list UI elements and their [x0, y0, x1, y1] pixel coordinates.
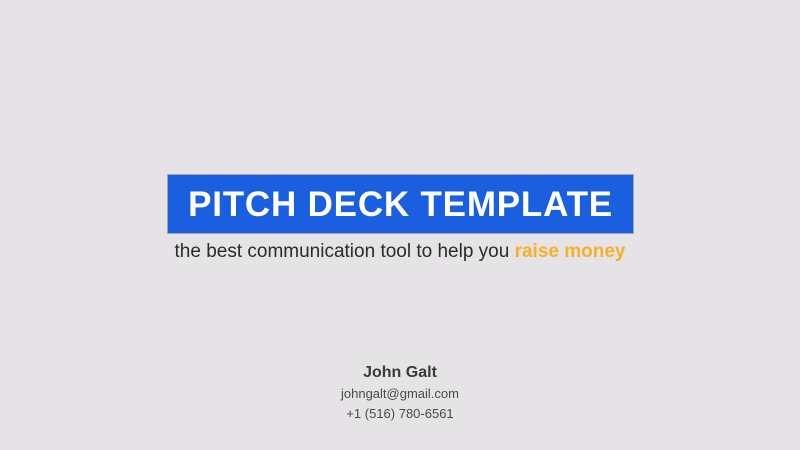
contact-block: John Galt johngalt@gmail.com +1 (516) 78…: [0, 362, 800, 424]
title-banner: PITCH DECK TEMPLATE: [168, 175, 633, 233]
contact-phone: +1 (516) 780-6561: [0, 404, 800, 424]
presentation-slide: PITCH DECK TEMPLATE the best communicati…: [0, 0, 800, 450]
slide-subtitle: the best communication tool to help you …: [0, 240, 800, 264]
contact-name: John Galt: [0, 362, 800, 384]
contact-email: johngalt@gmail.com: [0, 384, 800, 404]
slide-title: PITCH DECK TEMPLATE: [188, 187, 613, 222]
subtitle-highlight-text: raise money: [515, 241, 626, 262]
subtitle-lead-text: the best communication tool to help you: [175, 241, 515, 262]
